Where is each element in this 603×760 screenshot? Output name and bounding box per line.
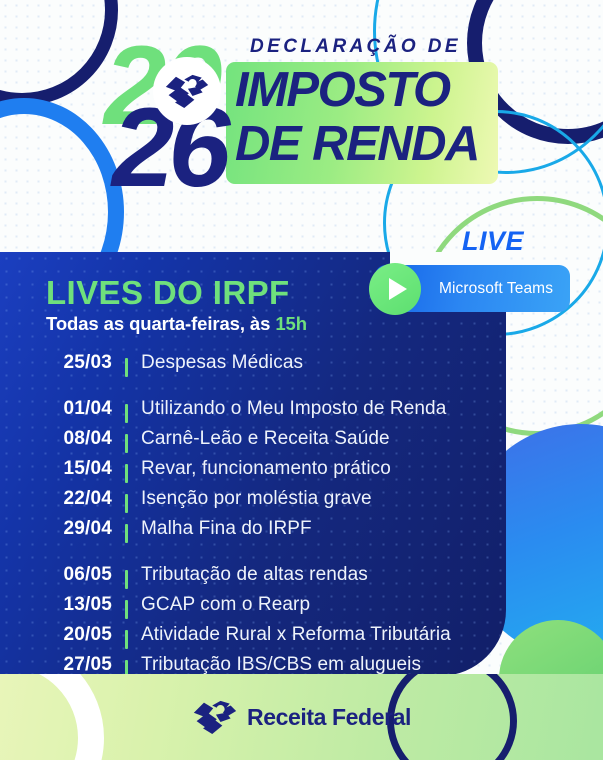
schedule-group: 01/04 Utilizando o Meu Imposto de Renda … bbox=[0, 398, 506, 548]
schedule-date: 08/04 bbox=[0, 428, 112, 450]
panel-subheading: Todas as quarta-feiras, às 15h bbox=[46, 315, 307, 334]
teams-label: Microsoft Teams bbox=[439, 280, 553, 298]
schedule-group: 06/05 Tributação de altas rendas 13/05 G… bbox=[0, 564, 506, 676]
schedule-topic: Malha Fina do IRPF bbox=[141, 518, 312, 540]
schedule-row: 13/05 GCAP com o Rearp bbox=[0, 594, 506, 624]
panel-content: LIVES DO IRPF Todas as quarta-feiras, às… bbox=[0, 252, 506, 676]
schedule-topic: Atividade Rural x Reforma Tributária bbox=[141, 624, 451, 646]
schedule-topic: Isenção por moléstia grave bbox=[141, 488, 372, 510]
schedule-row: 29/04 Malha Fina do IRPF bbox=[0, 518, 506, 548]
panel-subheading-text: Todas as quarta-feiras, às bbox=[46, 313, 275, 334]
schedule-date: 01/04 bbox=[0, 398, 112, 420]
schedule-date: 13/05 bbox=[0, 594, 112, 616]
receita-federal-wordmark: Receita Federal bbox=[247, 704, 411, 731]
schedule-separator-icon bbox=[125, 494, 128, 513]
schedule-date: 27/05 bbox=[0, 654, 112, 676]
schedule-topic: Despesas Médicas bbox=[141, 352, 303, 374]
schedule-row: 25/03 Despesas Médicas bbox=[0, 352, 506, 382]
poster-title-line-1: IMPOSTO bbox=[235, 66, 450, 115]
schedule-separator-icon bbox=[125, 630, 128, 649]
schedule-date: 15/04 bbox=[0, 458, 112, 480]
play-icon[interactable] bbox=[369, 263, 421, 315]
receita-federal-mark-icon bbox=[153, 57, 221, 125]
schedule-row: 22/04 Isenção por moléstia grave bbox=[0, 488, 506, 518]
poster-kicker: DECLARAÇÃO DE bbox=[250, 36, 461, 58]
schedule-separator-icon bbox=[125, 570, 128, 589]
schedule-topic: Carnê-Leão e Receita Saúde bbox=[141, 428, 390, 450]
panel-heading: LIVES DO IRPF bbox=[46, 276, 290, 309]
poster-canvas: 20 26 DECLARAÇÃO DE IMPOSTO DE RENDA bbox=[0, 0, 603, 760]
schedule-topic: Tributação IBS/CBS em alugueis bbox=[141, 654, 421, 676]
schedule-date: 20/05 bbox=[0, 624, 112, 646]
schedule-date: 25/03 bbox=[0, 352, 112, 374]
panel-subheading-hour: 15h bbox=[275, 313, 307, 334]
schedule-row: 06/05 Tributação de altas rendas bbox=[0, 564, 506, 594]
schedule-topic: Utilizando o Meu Imposto de Renda bbox=[141, 398, 446, 420]
decorative-white-arc-footer bbox=[0, 674, 104, 760]
schedule-row: 20/05 Atividade Rural x Reforma Tributár… bbox=[0, 624, 506, 654]
schedule-topic: Tributação de altas rendas bbox=[141, 564, 368, 586]
play-triangle-icon bbox=[389, 278, 407, 300]
schedule-topic: GCAP com o Rearp bbox=[141, 594, 310, 616]
poster-header: 20 26 DECLARAÇÃO DE IMPOSTO DE RENDA bbox=[0, 0, 603, 252]
schedule-list: 25/03 Despesas Médicas 01/04 Utilizando … bbox=[0, 352, 506, 676]
schedule-separator-icon bbox=[125, 524, 128, 543]
schedule-topic: Revar, funcionamento prático bbox=[141, 458, 391, 480]
schedule-row: 15/04 Revar, funcionamento prático bbox=[0, 458, 506, 488]
schedule-row: 08/04 Carnê-Leão e Receita Saúde bbox=[0, 428, 506, 458]
receita-federal-mark-icon bbox=[192, 699, 238, 735]
schedule-row: 27/05 Tributação IBS/CBS em alugueis bbox=[0, 654, 506, 676]
schedule-separator-icon bbox=[125, 434, 128, 453]
schedule-date: 22/04 bbox=[0, 488, 112, 510]
schedule-group: 25/03 Despesas Médicas bbox=[0, 352, 506, 382]
schedule-separator-icon bbox=[125, 464, 128, 483]
schedule-row: 01/04 Utilizando o Meu Imposto de Renda bbox=[0, 398, 506, 428]
live-label: LIVE bbox=[462, 228, 524, 255]
schedule-separator-icon bbox=[125, 404, 128, 423]
schedule-date: 29/04 bbox=[0, 518, 112, 540]
schedule-date: 06/05 bbox=[0, 564, 112, 586]
schedule-separator-icon bbox=[125, 358, 128, 377]
receita-federal-logo: Receita Federal bbox=[192, 699, 411, 735]
poster-footer: Receita Federal bbox=[0, 674, 603, 760]
schedule-panel: LIVES DO IRPF Todas as quarta-feiras, às… bbox=[0, 252, 506, 676]
poster-title-line-2: DE RENDA bbox=[235, 120, 479, 169]
schedule-separator-icon bbox=[125, 600, 128, 619]
